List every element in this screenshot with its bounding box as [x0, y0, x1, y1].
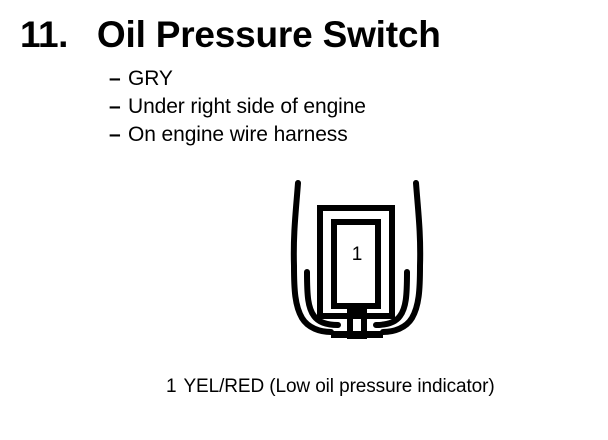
caption-pin-description: YEL/RED (Low oil pressure indicator): [183, 376, 494, 397]
bullet-list: – GRY – Under right side of engine – On …: [109, 67, 366, 151]
dash-bullet-icon: –: [109, 123, 128, 147]
connector-diagram: 1: [276, 172, 436, 350]
list-item-label: GRY: [128, 67, 173, 91]
list-item-label: Under right side of engine: [128, 95, 366, 119]
page-title-number: 11.: [20, 14, 68, 56]
caption-pin-number: 1: [166, 376, 176, 397]
page-title-text: Oil Pressure Switch: [97, 14, 441, 56]
dash-bullet-icon: –: [109, 95, 128, 119]
slide-canvas: 11. Oil Pressure Switch – GRY – Under ri…: [0, 0, 608, 440]
dash-bullet-icon: –: [109, 67, 128, 91]
list-item: – Under right side of engine: [109, 95, 366, 123]
pin-number-label: 1: [277, 245, 437, 264]
list-item: – GRY: [109, 67, 366, 95]
connector-caption: 1YEL/RED (Low oil pressure indicator): [166, 376, 495, 398]
page-title: 11. Oil Pressure Switch: [20, 14, 441, 56]
list-item: – On engine wire harness: [109, 123, 366, 151]
list-item-label: On engine wire harness: [128, 123, 348, 147]
